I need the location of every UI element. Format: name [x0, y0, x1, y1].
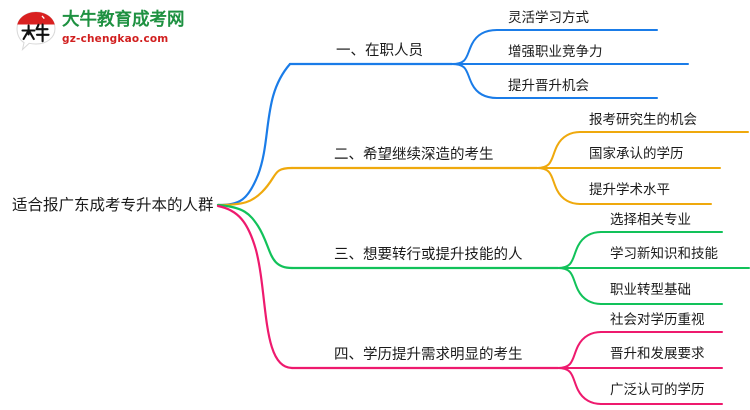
daniu-speech-bubble-logo-icon	[14, 10, 58, 52]
leaf-label-4-2[interactable]: 晋升和发展要求	[610, 346, 705, 363]
leaf-label-3-2[interactable]: 学习新知识和技能	[610, 246, 718, 263]
leaf-label-4-3[interactable]: 广泛认可的学历	[610, 382, 705, 399]
leaf-label-1-3[interactable]: 提升晋升机会	[508, 78, 589, 95]
leaf-label-2-2[interactable]: 国家承认的学历	[589, 146, 684, 163]
logo-title: 大牛教育成考网	[62, 10, 212, 31]
leaf-label-2-3[interactable]: 提升学术水平	[589, 182, 670, 199]
branch-label-3[interactable]: 三、想要转行或提升技能的人	[334, 246, 523, 264]
logo-subtitle: gz-chengkao.com	[62, 32, 212, 46]
mindmap-root-label[interactable]: 适合报广东成考专升本的人群	[12, 196, 214, 215]
leaf-label-1-2[interactable]: 增强职业竞争力	[508, 44, 603, 61]
site-logo[interactable]: 大牛教育成考网 gz-chengkao.com	[14, 8, 204, 54]
branch-label-2[interactable]: 二、希望继续深造的考生	[334, 146, 494, 164]
leaf-label-3-3[interactable]: 职业转型基础	[610, 282, 691, 299]
branch-label-4[interactable]: 四、学历提升需求明显的考生	[334, 346, 523, 364]
leaf-label-4-1[interactable]: 社会对学历重视	[610, 312, 705, 329]
branch-4-connector	[218, 206, 722, 404]
leaf-label-2-1[interactable]: 报考研究生的机会	[589, 112, 697, 129]
mindmap-canvas: 大牛教育成考网 gz-chengkao.com	[0, 0, 750, 410]
logo-text: 大牛教育成考网 gz-chengkao.com	[62, 10, 212, 52]
leaf-label-1-1[interactable]: 灵活学习方式	[508, 10, 589, 27]
branch-label-1[interactable]: 一、在职人员	[336, 42, 423, 60]
leaf-label-3-1[interactable]: 选择相关专业	[610, 212, 691, 229]
